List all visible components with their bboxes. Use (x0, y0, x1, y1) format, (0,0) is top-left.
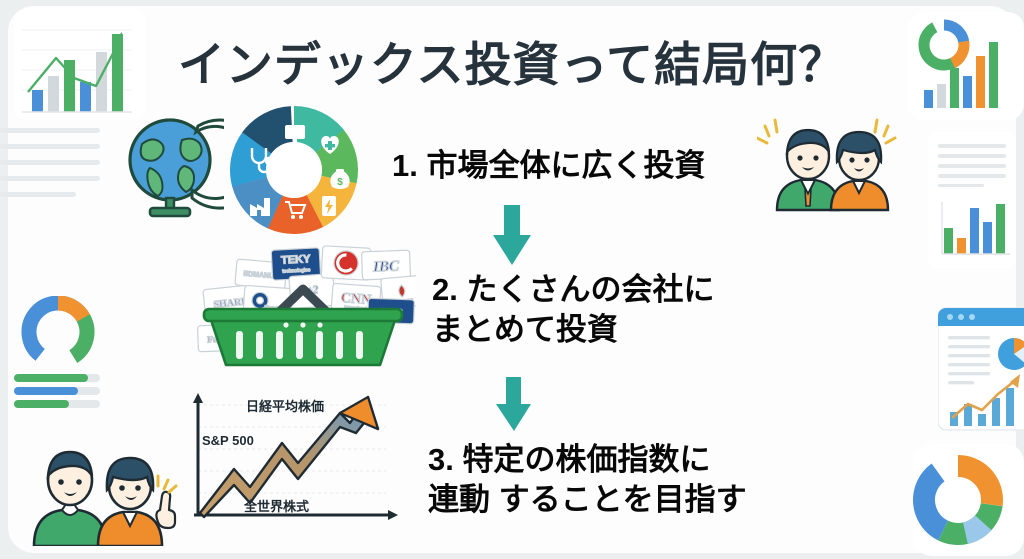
decor-browser-window-card (938, 300, 1024, 441)
point-1-text: 1. 市場全体に広く投資 (392, 146, 705, 186)
person-female (98, 458, 176, 546)
person-male (34, 452, 106, 546)
battery-bolt-icon (322, 196, 336, 216)
decor-donut-progress-card (6, 296, 116, 421)
chart-label-sp500: S&P 500 (202, 433, 254, 448)
chart-label-world: 全世界株式 (243, 499, 309, 514)
flow-arrow-1-icon (488, 205, 536, 272)
growth-arrow-chart: 日経平均株価 S&P 500 全世界株式 (172, 383, 410, 538)
sparkle-right (875, 120, 895, 143)
decor-text-lines-left (0, 118, 120, 213)
globe-icon (120, 112, 224, 225)
point-3-text: 3. 特定の株価指数に 連動 することを目指す (428, 440, 747, 519)
svg-text:IBC: IBC (372, 259, 400, 276)
svg-text:TEKY: TEKY (281, 253, 312, 267)
person-female (831, 132, 888, 210)
sparkle-right (158, 476, 176, 492)
people-pair-bottom-icon (18, 434, 178, 551)
shopping-basket-icon: SHARP EDMANUF TEKY technologies Rivertro… (190, 243, 416, 376)
infographic-root: インデックス投資って結局何？ (0, 0, 1024, 559)
page-title: インデックス投資って結局何？ (0, 26, 1024, 95)
decor-donut-chart-card (900, 444, 1024, 559)
person-male (777, 130, 839, 210)
decor-document-bars-card (928, 132, 1024, 277)
chart-label-nikkei: 日経平均株価 (246, 399, 324, 414)
pointing-hand-icon (156, 492, 175, 528)
people-pair-top-icon (757, 112, 897, 217)
sparkle-left (757, 120, 777, 143)
flow-arrow-2-icon (492, 377, 536, 438)
sector-donut-icon: $ (228, 104, 360, 241)
svg-text:$: $ (337, 177, 343, 188)
point-2-text: 2. たくさんの会社に まとめて投資 (432, 270, 714, 349)
